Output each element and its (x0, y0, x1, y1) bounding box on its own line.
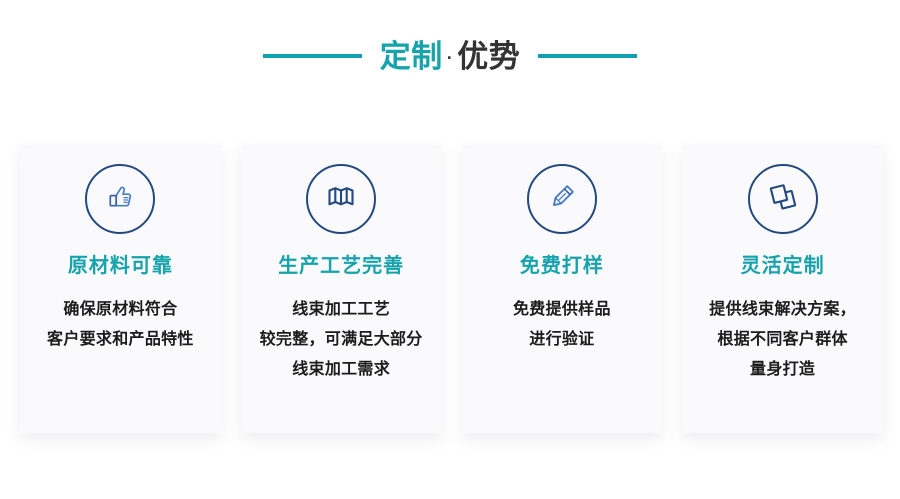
card-description: 确保原材料符合 客户要求和产品特性 (31, 295, 209, 355)
feature-card-flexible-customization[interactable]: 灵活定制 提供线束解决方案， 根据不同客户群体 量身打造 (682, 145, 883, 433)
card-description-line: 免费提供样品 (473, 295, 651, 325)
card-description-line: 根据不同客户群体 (685, 325, 881, 355)
card-description-line: 量身打造 (685, 355, 881, 385)
card-description: 免费提供样品 进行验证 (473, 295, 651, 355)
icon-circle (527, 164, 597, 234)
page-title-main: 优势 (457, 41, 520, 72)
card-description-line: 提供线束解决方案， (685, 295, 881, 325)
icon-circle (85, 164, 155, 234)
stacked-cards-icon (765, 179, 801, 220)
feature-card-production-process[interactable]: 生产工艺完善 线束加工工艺 较完整，可满足大部分 线束加工需求 (241, 145, 442, 433)
heading-rule-right (538, 54, 637, 58)
card-description-line: 进行验证 (473, 325, 651, 355)
icon-circle (748, 164, 818, 234)
card-description: 线束加工工艺 较完整，可满足大部分 线束加工需求 (243, 295, 439, 385)
feature-card-free-sample[interactable]: 免费打样 免费提供样品 进行验证 (462, 145, 663, 433)
feature-card-raw-material[interactable]: 原材料可靠 确保原材料符合 客户要求和产品特性 (20, 145, 221, 433)
heading-rule-left (263, 54, 362, 58)
card-title: 灵活定制 (741, 256, 825, 276)
card-title: 免费打样 (520, 256, 604, 276)
page-title-accent: 定制 (380, 41, 443, 72)
page-title: 定制 · 优势 (380, 41, 521, 72)
card-description: 提供线束解决方案， 根据不同客户群体 量身打造 (685, 295, 881, 385)
card-title: 原材料可靠 (68, 256, 173, 276)
card-description-line: 线束加工工艺 (243, 295, 439, 325)
page-title-separator: · (443, 49, 458, 67)
card-title: 生产工艺完善 (278, 256, 404, 276)
folded-map-icon (323, 179, 359, 220)
card-description-line: 线束加工需求 (243, 355, 439, 385)
icon-circle (306, 164, 376, 234)
pencil-icon (544, 179, 580, 220)
feature-card-list: 原材料可靠 确保原材料符合 客户要求和产品特性 生产工艺完善 线束加工工艺 较完… (20, 145, 883, 433)
card-description-line: 较完整，可满足大部分 (243, 325, 439, 355)
card-description-line: 客户要求和产品特性 (31, 325, 209, 355)
card-description-line: 确保原材料符合 (31, 295, 209, 325)
section-header: 定制 · 优势 (0, 30, 900, 82)
thumbs-up-icon (102, 179, 138, 220)
